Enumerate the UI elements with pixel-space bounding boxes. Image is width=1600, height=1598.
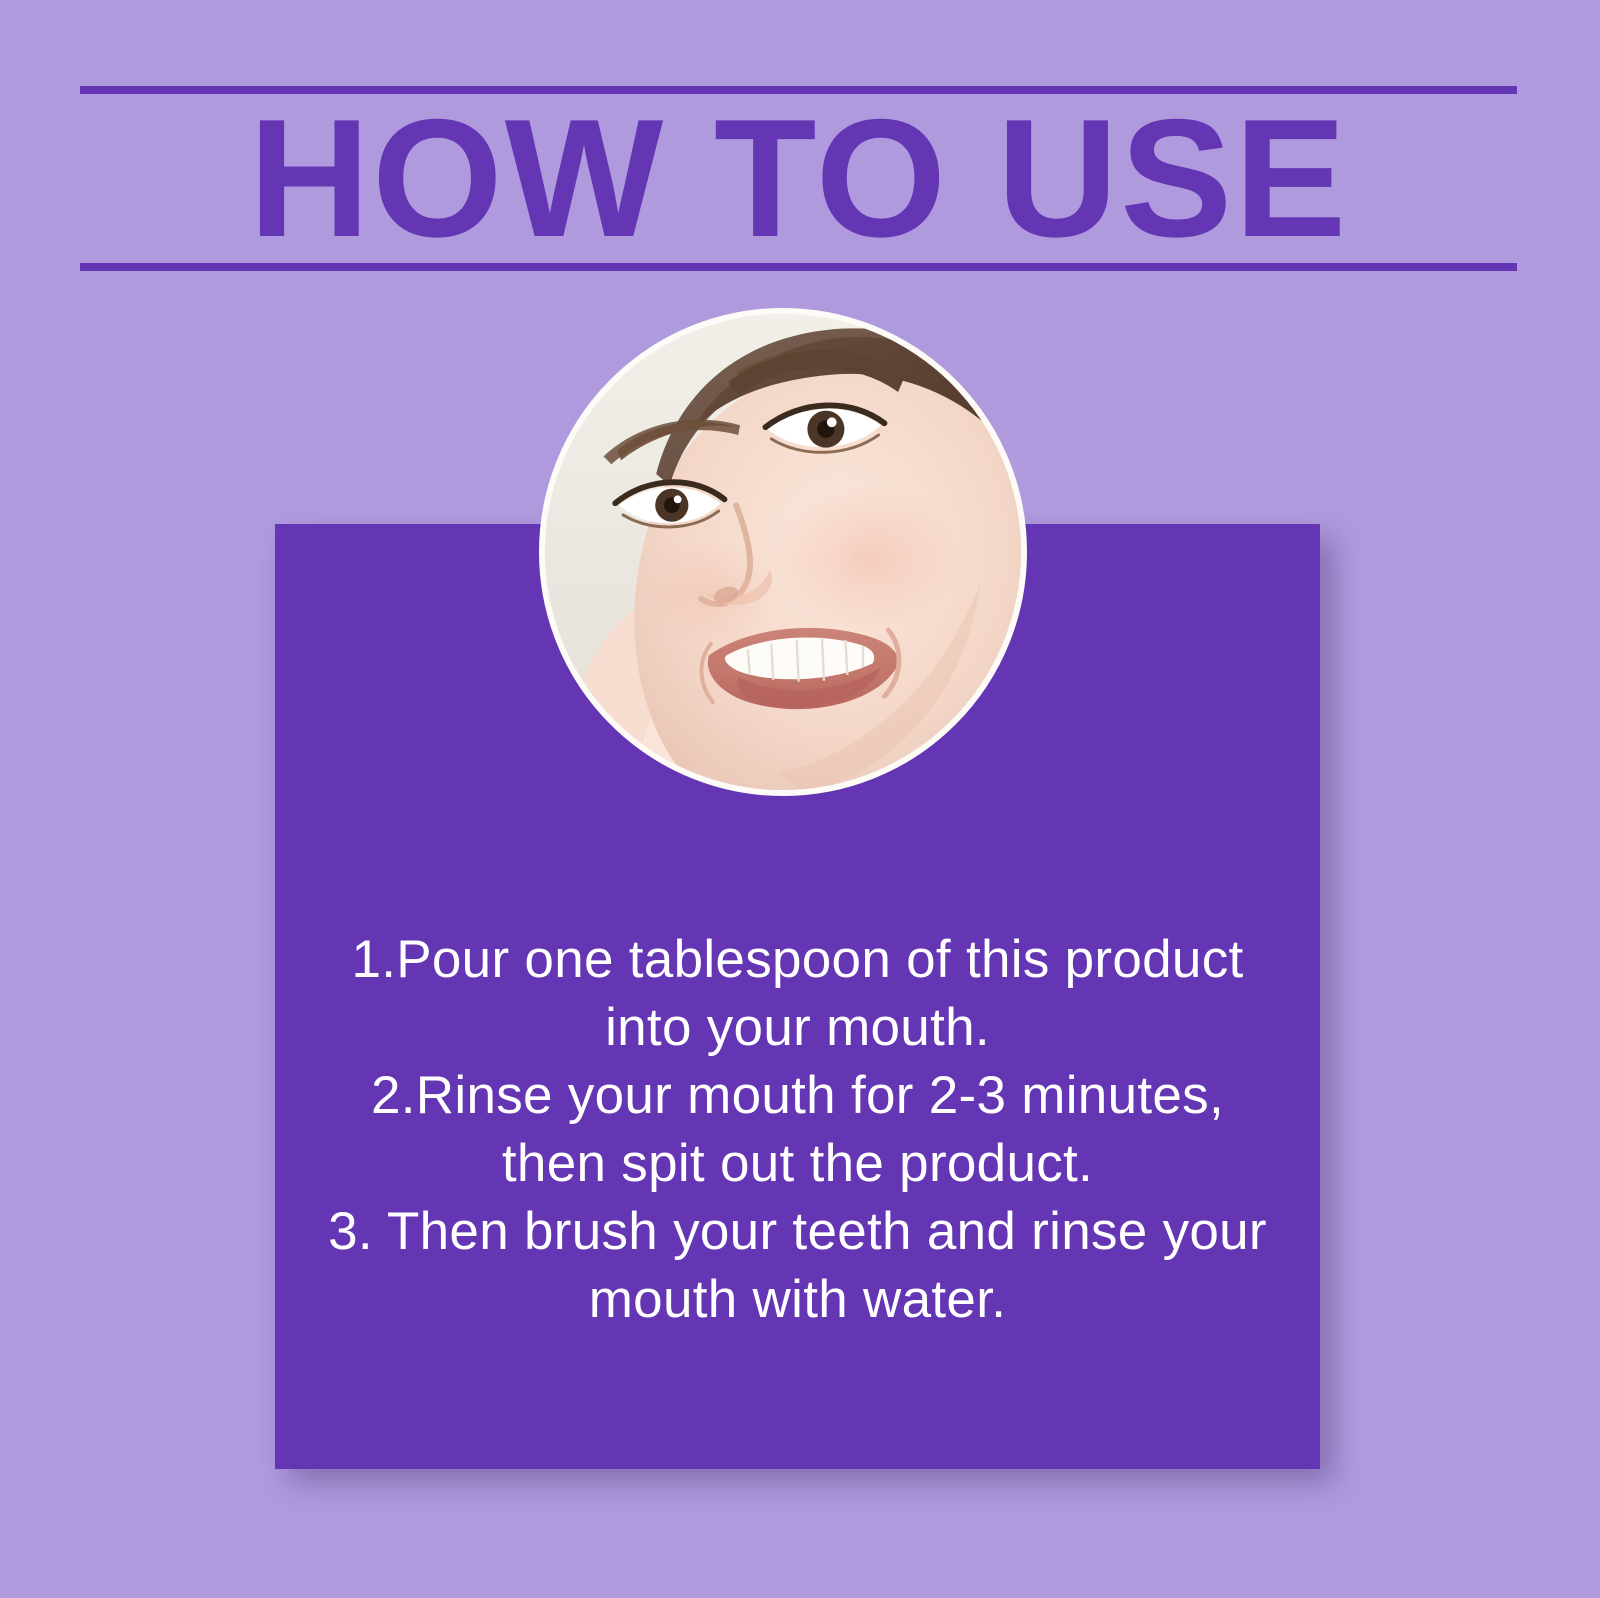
poster-canvas: HOW TO USE 1.Pour one tablespoon of this… (0, 0, 1600, 1598)
page-title: HOW TO USE (80, 94, 1517, 263)
instruction-line: mouth with water. (275, 1266, 1320, 1334)
portrait-circle (539, 308, 1027, 796)
header-rule-bottom (80, 263, 1517, 271)
instruction-line: then spit out the product. (275, 1130, 1320, 1198)
smiling-woman-portrait-icon (545, 314, 1021, 790)
instruction-line: 1.Pour one tablespoon of this product (275, 926, 1320, 994)
instruction-line: 2.Rinse your mouth for 2-3 minutes, (275, 1062, 1320, 1130)
instruction-line: 3. Then brush your teeth and rinse your (275, 1198, 1320, 1266)
header-block: HOW TO USE (80, 86, 1517, 276)
instruction-line: into your mouth. (275, 994, 1320, 1062)
